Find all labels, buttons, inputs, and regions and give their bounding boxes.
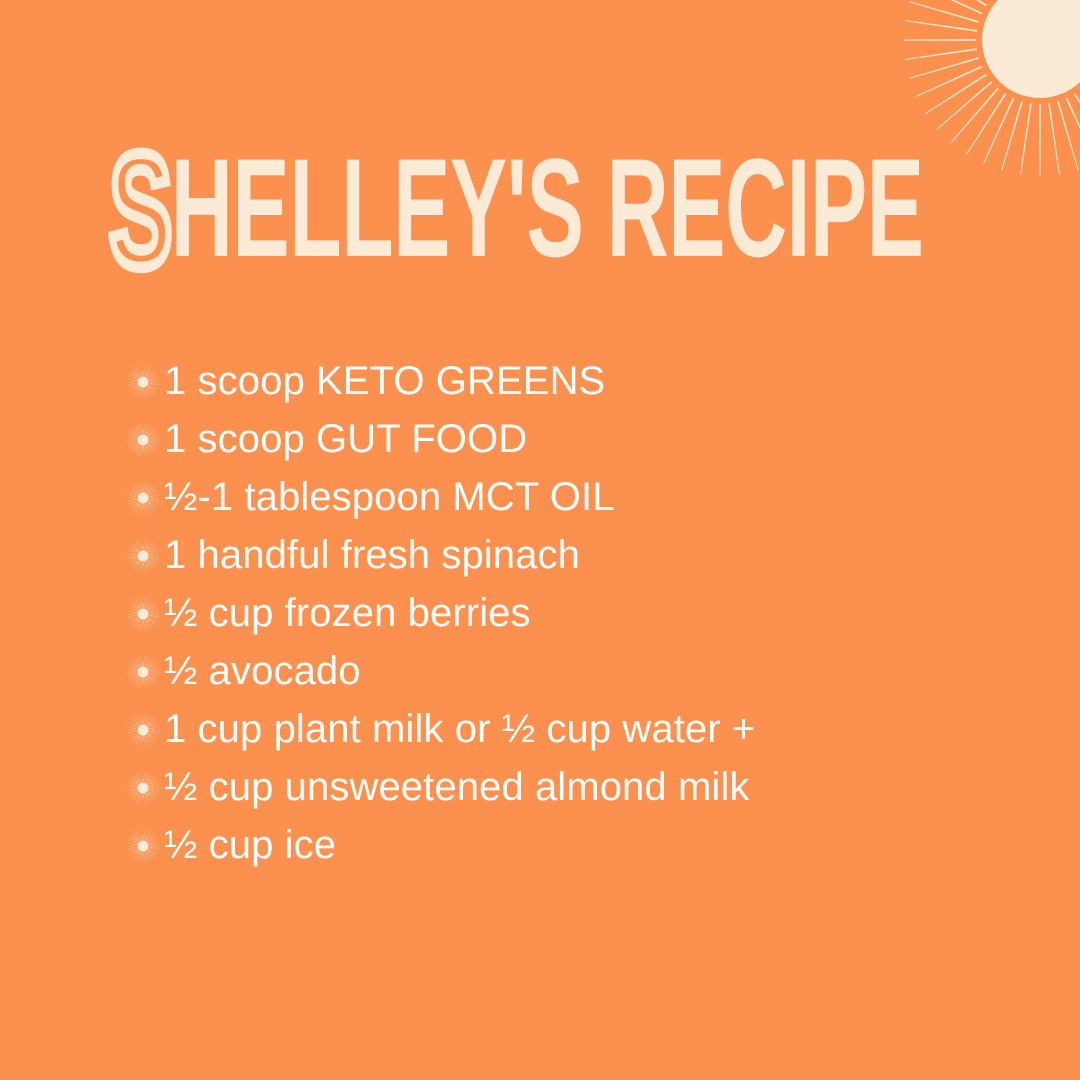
- list-item: 1 scoop KETO GREENS: [126, 352, 1026, 410]
- list-item: ½ cup unsweetened almond milk: [126, 758, 1026, 816]
- ingredient-list: 1 scoop KETO GREENS1 scoop GUT FOOD½-1 t…: [126, 352, 1026, 874]
- list-item: ½-1 tablespoon MCT OIL: [126, 468, 1026, 526]
- list-item: 1 handful fresh spinach: [126, 526, 1026, 584]
- sunburst-bullet-icon: [126, 423, 160, 457]
- sunburst-bullet-icon: [126, 481, 160, 515]
- sunburst-bullet-icon: [126, 365, 160, 399]
- list-item: ½ cup ice: [126, 816, 1026, 874]
- sunburst-bullet-icon: [126, 829, 160, 863]
- ingredient-text: 1 handful fresh spinach: [164, 535, 580, 575]
- list-item: 1 scoop GUT FOOD: [126, 410, 1026, 468]
- ingredient-text: ½ cup frozen berries: [164, 593, 531, 633]
- ingredient-text: 1 cup plant milk or ½ cup water +: [164, 709, 755, 749]
- list-item: ½ avocado: [126, 642, 1026, 700]
- ingredient-text: 1 scoop GUT FOOD: [164, 419, 527, 459]
- ingredient-text: ½ cup ice: [164, 825, 336, 865]
- sunburst-bullet-icon: [126, 655, 160, 689]
- sunburst-bullet-icon: [126, 713, 160, 747]
- ingredient-text: ½ avocado: [164, 651, 361, 691]
- sunburst-bullet-icon: [126, 771, 160, 805]
- page-title: S HELLEY'S RECIPE: [108, 128, 968, 278]
- ingredient-text: ½-1 tablespoon MCT OIL: [164, 477, 615, 517]
- sunburst-bullet-icon: [126, 597, 160, 631]
- list-item: 1 cup plant milk or ½ cup water +: [126, 700, 1026, 758]
- recipe-card: S HELLEY'S RECIPE 1 scoop KETO GREENS1 s…: [0, 0, 1080, 1080]
- ingredient-text: ½ cup unsweetened almond milk: [164, 767, 749, 807]
- sunburst-bullet-icon: [126, 539, 160, 573]
- title-text: HELLEY'S RECIPE: [171, 130, 924, 278]
- ingredient-text: 1 scoop KETO GREENS: [164, 361, 605, 401]
- title-dropcap: S: [109, 128, 172, 278]
- list-item: ½ cup frozen berries: [126, 584, 1026, 642]
